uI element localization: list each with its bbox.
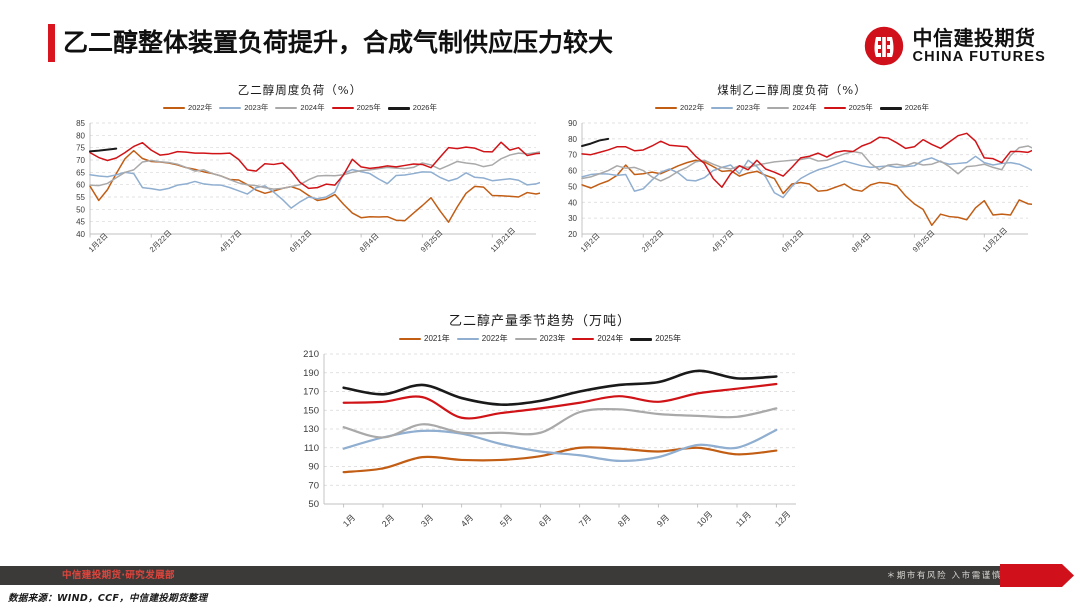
legend-item-2024年[interactable]: 2024年: [275, 103, 324, 113]
y-axis-tick-label: 85: [76, 119, 85, 128]
legend-swatch-icon: [515, 338, 537, 340]
footer-risk-note: ＊期市有风险 入市需谨慎: [887, 570, 1002, 582]
legend-label: 2023年: [736, 103, 760, 113]
chart-title: 乙二醇周度负荷（%）: [60, 82, 540, 98]
series-line-2026年: [90, 149, 116, 152]
legend-label: 2022年: [680, 103, 704, 113]
chart-legend: 2021年2022年2023年2024年2025年: [280, 333, 800, 345]
logo-name-en: CHINA FUTURES: [913, 49, 1046, 66]
footer-arrow-shape: [1000, 564, 1080, 587]
legend-item-2024年[interactable]: 2024年: [572, 334, 623, 344]
page-title: 乙二醇整体装置负荷提升，合成气制供应压力较大: [63, 25, 613, 61]
plot-area: 40455055606570758085 1月2日2月22日4月17日6月12日…: [60, 119, 540, 278]
y-axis-tick-label: 60: [76, 181, 85, 190]
title-accent-bar: [48, 24, 55, 62]
y-axis-tick-label: 50: [76, 205, 85, 214]
slide-header: 乙二醇整体装置负荷提升，合成气制供应压力较大 中信建投期货 CHINA FUTU…: [0, 0, 1080, 82]
legend-label: 2025年: [357, 103, 381, 113]
legend-label: 2025年: [849, 103, 873, 113]
plot-area: 507090110130150170190210 1月2月3月4月5月6月7月8…: [280, 350, 800, 552]
legend-label: 2026年: [905, 103, 929, 113]
series-line-2025年: [344, 371, 777, 405]
legend-item-2025年[interactable]: 2025年: [824, 103, 873, 113]
y-axis-tick-label: 20: [568, 230, 577, 239]
y-axis-tick-label: 130: [303, 424, 319, 435]
legend-swatch-icon: [655, 107, 677, 109]
y-axis-tick-label: 150: [303, 405, 319, 416]
chart-panel-eg-weekly-load: 乙二醇周度负荷（%） 2022年2023年2024年2025年2026年 404…: [60, 82, 540, 287]
y-axis-tick-label: 210: [303, 350, 319, 360]
logo-name-cn: 中信建投期货: [913, 27, 1046, 49]
legend-item-2025年[interactable]: 2025年: [332, 103, 381, 113]
legend-swatch-icon: [399, 338, 421, 340]
legend-swatch-icon: [572, 338, 594, 340]
y-axis-tick-label: 70: [76, 156, 85, 165]
series-line-2026年: [582, 139, 608, 146]
legend-label: 2021年: [424, 334, 450, 344]
legend-swatch-icon: [219, 107, 241, 109]
slide-root: 乙二醇整体装置负荷提升，合成气制供应压力较大 中信建投期货 CHINA FUTU…: [0, 0, 1080, 608]
footer-source: 数据来源：WIND，CCF，中信建投期货整理: [8, 592, 207, 605]
y-axis-tick-label: 50: [308, 499, 319, 510]
y-axis-tick-label: 80: [568, 135, 577, 144]
y-axis-tick-label: 55: [76, 193, 85, 202]
y-axis-tick-label: 110: [304, 443, 319, 454]
chart-title: 煤制乙二醇周度负荷（%）: [552, 82, 1032, 98]
legend-label: 2023年: [540, 334, 566, 344]
y-axis-tick-label: 30: [568, 214, 577, 223]
legend-label: 2026年: [413, 103, 437, 113]
plot-svg: 507090110130150170190210: [280, 350, 800, 518]
company-logo: 中信建投期货 CHINA FUTURES: [863, 24, 1046, 68]
citic-logo-icon: [863, 25, 905, 67]
series-line-2025年: [90, 142, 540, 188]
legend-item-2023年[interactable]: 2023年: [219, 103, 268, 113]
y-axis-tick-label: 60: [568, 167, 577, 176]
legend-item-2024年[interactable]: 2024年: [767, 103, 816, 113]
legend-label: 2022年: [482, 334, 508, 344]
legend-label: 2024年: [597, 334, 623, 344]
plot-area: 2030405060708090 1月2日2月22日4月17日6月12日8月4日…: [552, 119, 1032, 278]
series-line-2024年: [344, 384, 777, 418]
legend-swatch-icon: [711, 107, 733, 109]
legend-item-2022年[interactable]: 2022年: [457, 334, 508, 344]
y-axis-tick-label: 90: [308, 462, 319, 473]
legend-swatch-icon: [388, 107, 410, 110]
plot-svg: 2030405060708090: [552, 119, 1032, 244]
chart-legend: 2022年2023年2024年2025年2026年: [552, 102, 1032, 114]
y-axis-tick-label: 80: [76, 131, 85, 140]
legend-item-2026年[interactable]: 2026年: [388, 103, 437, 113]
y-axis-tick-label: 40: [568, 198, 577, 207]
footer-department: 中信建投期货·研究发展部: [62, 569, 175, 582]
y-axis-tick-label: 45: [76, 218, 85, 227]
y-axis-tick-label: 40: [76, 230, 85, 239]
legend-item-2022年[interactable]: 2022年: [163, 103, 212, 113]
chart-title: 乙二醇产量季节趋势（万吨）: [280, 310, 800, 329]
x-axis-ticks: 1月2月3月4月5月6月7月8月9月10月11月12月: [280, 518, 800, 552]
x-axis-ticks: 1月2日2月22日4月17日6月12日8月4日9月25日11月21日: [552, 244, 1032, 278]
y-axis-tick-label: 70: [568, 151, 577, 160]
y-axis-tick-label: 75: [76, 144, 85, 153]
chart-panel-coal-eg-weekly-load: 煤制乙二醇周度负荷（%） 2022年2023年2024年2025年2026年 2…: [552, 82, 1032, 287]
logo-text-block: 中信建投期货 CHINA FUTURES: [913, 27, 1046, 66]
y-axis-tick-label: 70: [308, 480, 319, 491]
legend-swatch-icon: [457, 338, 479, 340]
legend-swatch-icon: [630, 338, 652, 341]
y-axis-tick-label: 190: [303, 368, 319, 379]
legend-label: 2025年: [655, 334, 681, 344]
legend-item-2021年[interactable]: 2021年: [399, 334, 450, 344]
legend-label: 2022年: [188, 103, 212, 113]
series-line-2025年: [582, 133, 1032, 187]
y-axis-tick-label: 50: [568, 182, 577, 191]
series-line-2021年: [344, 447, 777, 472]
y-axis-tick-label: 90: [568, 119, 577, 128]
series-line-2022年: [582, 160, 1032, 225]
series-line-2023年: [582, 156, 1032, 197]
legend-swatch-icon: [767, 107, 789, 109]
legend-item-2023年[interactable]: 2023年: [711, 103, 760, 113]
legend-swatch-icon: [880, 107, 902, 110]
plot-svg: 40455055606570758085: [60, 119, 540, 244]
legend-swatch-icon: [824, 107, 846, 109]
chart-legend: 2022年2023年2024年2025年2026年: [60, 102, 540, 114]
legend-item-2025年[interactable]: 2025年: [630, 334, 681, 344]
y-axis-tick-label: 170: [303, 387, 319, 398]
legend-label: 2024年: [300, 103, 324, 113]
legend-swatch-icon: [332, 107, 354, 109]
legend-swatch-icon: [275, 107, 297, 109]
legend-label: 2024年: [792, 103, 816, 113]
legend-swatch-icon: [163, 107, 185, 109]
chart-panel-eg-output-seasonal: 乙二醇产量季节趋势（万吨） 2021年2022年2023年2024年2025年 …: [280, 310, 800, 560]
y-axis-tick-label: 65: [76, 168, 85, 177]
legend-label: 2023年: [244, 103, 268, 113]
legend-item-2022年[interactable]: 2022年: [655, 103, 704, 113]
x-axis-ticks: 1月2日2月22日4月17日6月12日8月4日9月25日11月21日: [60, 244, 540, 278]
legend-item-2023年[interactable]: 2023年: [515, 334, 566, 344]
legend-item-2026年[interactable]: 2026年: [880, 103, 929, 113]
series-line-2022年: [344, 430, 777, 461]
